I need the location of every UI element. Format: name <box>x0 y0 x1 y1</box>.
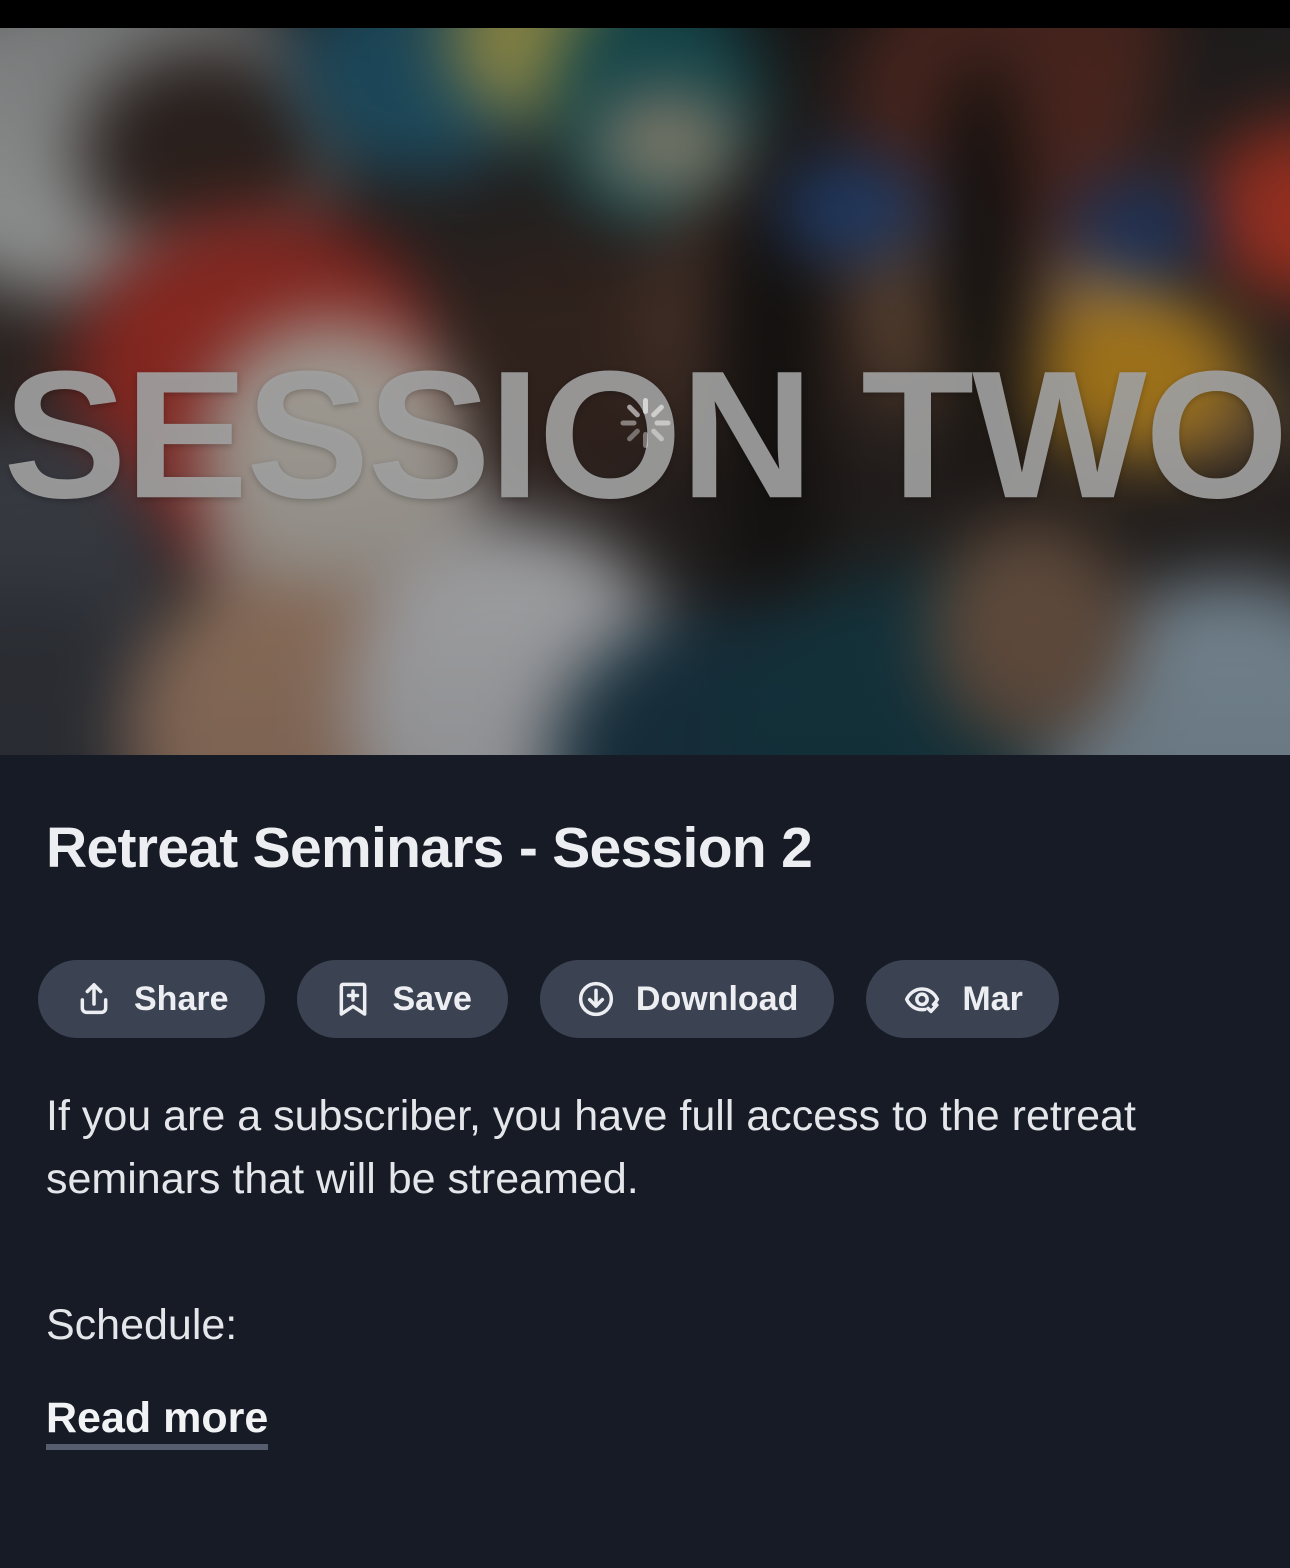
download-button-label: Download <box>636 982 798 1016</box>
status-bar <box>0 0 1290 28</box>
share-button[interactable]: Share <box>38 960 265 1038</box>
download-button[interactable]: Download <box>540 960 834 1038</box>
save-button[interactable]: Save <box>297 960 508 1038</box>
spinner-icon <box>617 395 673 451</box>
hero-media[interactable]: SESSION TWO <box>0 28 1290 755</box>
mark-watched-button[interactable]: Mar <box>866 960 1058 1038</box>
share-button-label: Share <box>134 982 229 1016</box>
page-title: Retreat Seminars - Session 2 <box>46 815 812 881</box>
mark-watched-button-label: Mar <box>962 982 1022 1016</box>
detail-content: Retreat Seminars - Session 2 Share <box>0 755 1290 1568</box>
media-detail-screen: SESSION TWO Retreat Seminars - Session 2 <box>0 0 1290 1568</box>
share-upload-icon <box>74 979 114 1019</box>
read-more-link[interactable]: Read more <box>46 1395 268 1450</box>
action-button-row: Share Save <box>38 960 1290 1038</box>
save-button-label: Save <box>393 982 472 1016</box>
eye-check-icon <box>902 979 942 1019</box>
download-circle-icon <box>576 979 616 1019</box>
schedule-label: Schedule: <box>46 1300 237 1352</box>
description-text: If you are a subscriber, you have full a… <box>46 1085 1261 1211</box>
bookmark-plus-icon <box>333 979 373 1019</box>
